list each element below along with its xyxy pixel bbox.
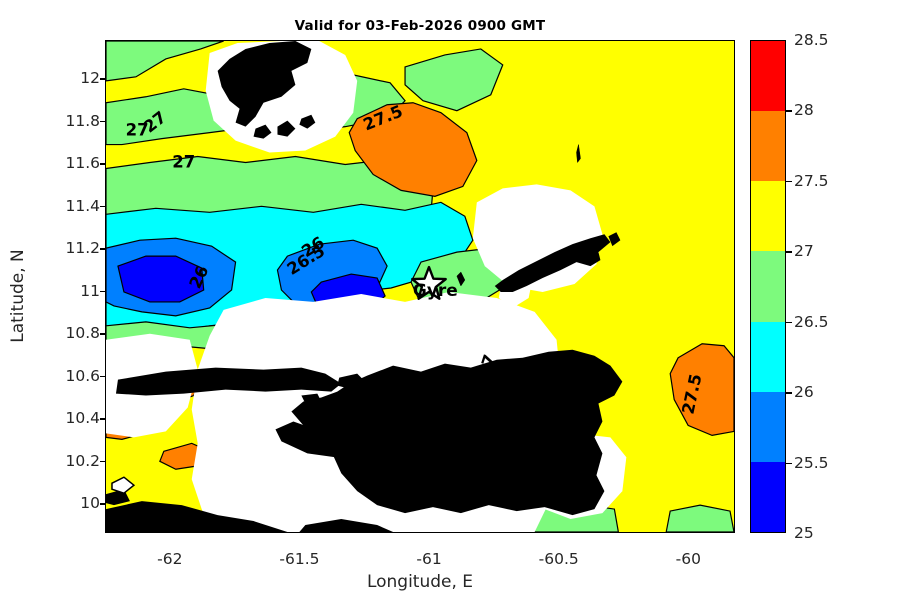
y-tick-mark	[100, 206, 106, 208]
y-tick-mark	[100, 503, 106, 505]
y-tick-label: 11.6	[38, 154, 100, 172]
y-tick-mark	[100, 461, 106, 463]
map-plot-area[interactable]: 27272727.5262626.5272727.5 Gyre	[105, 40, 735, 533]
colorbar-tick-label: 26	[794, 383, 814, 401]
colorbar-tick-label: 26.5	[794, 313, 829, 331]
y-tick-mark	[100, 248, 106, 250]
colorbar-tick-label: 27.5	[794, 172, 829, 190]
colorbar-tick-mark	[786, 110, 792, 112]
y-tick-mark	[100, 376, 106, 378]
colorbar-band	[751, 181, 785, 251]
contour-label: 27	[126, 121, 149, 140]
y-tick-mark	[100, 121, 106, 123]
x-tick-label: -60	[648, 550, 728, 568]
y-tick-label: 10.6	[38, 367, 100, 385]
contour-label: 27	[172, 153, 195, 172]
y-tick-label: 10.8	[38, 324, 100, 342]
page-title: Valid for 03-Feb-2026 0900 GMT	[105, 18, 735, 34]
x-axis-label: Longitude, E	[105, 572, 735, 592]
y-tick-mark	[100, 333, 106, 335]
y-tick-label: 11	[38, 282, 100, 300]
y-tick-label: 11.4	[38, 197, 100, 215]
colorbar-tick-mark	[786, 463, 792, 465]
y-tick-label: 11.8	[38, 112, 100, 130]
colorbar-band	[751, 322, 785, 392]
colorbar-ticks: 28.52827.52726.52625.525	[786, 40, 856, 533]
colorbar-band	[751, 462, 785, 532]
y-tick-label: 12	[38, 69, 100, 87]
x-tick-label: -60.5	[519, 550, 599, 568]
x-tick-label: -61.5	[259, 550, 339, 568]
colorbar-tick-label: 28.5	[794, 31, 829, 49]
colorbar-band	[751, 41, 785, 111]
y-axis-ticks: 1211.811.611.411.21110.810.610.410.210	[30, 40, 100, 533]
colorbar-band	[751, 392, 785, 462]
x-axis-ticks: -62-61.5-61-60.5-60	[105, 542, 735, 568]
colorbar-tick-label: 27	[794, 242, 814, 260]
y-tick-mark	[100, 291, 106, 293]
y-tick-mark	[100, 78, 106, 80]
y-tick-mark	[100, 418, 106, 420]
colorbar-band	[751, 251, 785, 321]
colorbar-tick-label: 28	[794, 101, 814, 119]
gyre-label: Gyre	[413, 281, 458, 301]
y-tick-label: 10.4	[38, 409, 100, 427]
y-tick-mark	[100, 163, 106, 165]
colorbar-band	[751, 111, 785, 181]
y-tick-label: 10.2	[38, 452, 100, 470]
colorbar-tick-mark	[786, 251, 792, 253]
y-tick-label: 10	[38, 494, 100, 512]
colorbar-tick-label: 25	[794, 524, 814, 542]
colorbar-tick-mark	[786, 392, 792, 394]
x-tick-label: -61	[389, 550, 469, 568]
y-axis-label: Latitude, N	[8, 186, 28, 406]
colorbar-tick-mark	[786, 322, 792, 324]
colorbar-tick-label: 25.5	[794, 454, 829, 472]
colorbar-tick-mark	[786, 181, 792, 183]
y-tick-label: 11.2	[38, 239, 100, 257]
x-tick-label: -62	[130, 550, 210, 568]
colorbar[interactable]	[750, 40, 786, 533]
figure-canvas: Valid for 03-Feb-2026 0900 GMT	[0, 0, 900, 600]
